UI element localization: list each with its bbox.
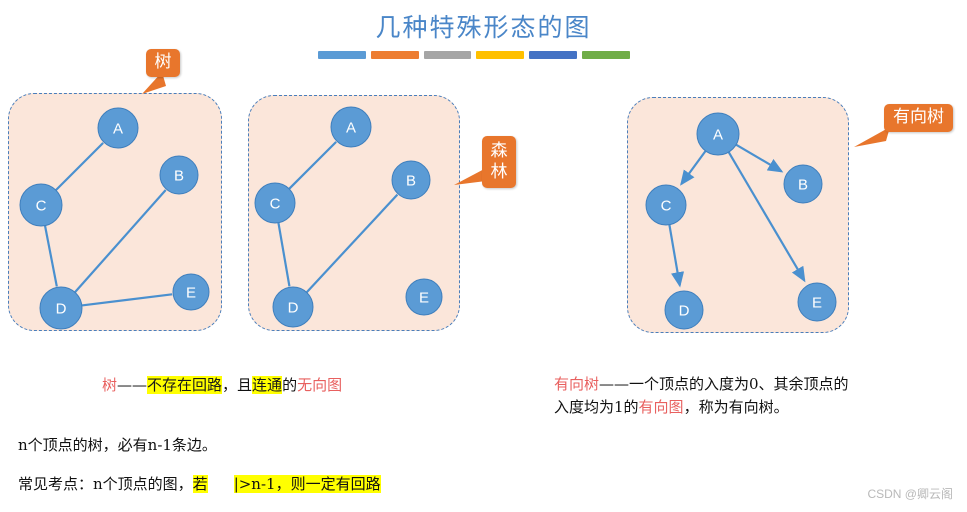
graph-edge-D-B: [306, 195, 397, 293]
callout-forest: 森林: [482, 136, 516, 188]
tree-definition-highlight-2: 连通: [252, 376, 282, 394]
tree-definition-highlight-1: 不存在回路: [147, 376, 222, 394]
note-line-2-highlight-ruo: 若: [193, 475, 208, 493]
node-label: A: [113, 121, 123, 138]
graph-node-D[interactable]: D: [40, 287, 82, 329]
tree-definition-de: 的: [282, 376, 297, 394]
graph-node-E[interactable]: E: [173, 274, 209, 310]
node-label: B: [174, 168, 184, 185]
callout-forest-label: 森林: [490, 141, 508, 183]
node-label: B: [798, 177, 808, 194]
graph-edge-C-A: [55, 143, 103, 191]
node-label: C: [36, 198, 47, 215]
directed-tree-line1-text: ——一个顶点的入度为0、其余顶点的: [599, 375, 849, 393]
directed-tree-line2-red: 有向图: [639, 398, 684, 416]
note-line-2-highlight-rest: |>n-1，则一定有回路: [234, 475, 381, 493]
node-label: C: [661, 198, 672, 215]
tree-definition-caption: 树——不存在回路，且连通的无向图: [102, 374, 342, 396]
graph-edge-A-C: [681, 150, 706, 184]
node-label: D: [288, 300, 299, 317]
graph-node-D[interactable]: D: [273, 287, 313, 327]
note-line-2: 常见考点：n个顶点的图，若|>n-1，则一定有回路: [18, 473, 381, 494]
tree-definition-mid: ，且: [222, 376, 252, 394]
directed-tree-line2-tail: ，称为有向树。: [684, 398, 789, 416]
note-line-2-head: 常见考点：n个顶点的图，: [18, 475, 193, 493]
graph-edge-C-D: [669, 224, 680, 286]
node-label: B: [406, 173, 416, 190]
node-label: A: [713, 127, 723, 144]
directed-tree-definition-line1: 有向树——一个顶点的入度为0、其余顶点的: [554, 373, 849, 395]
graph-edge-A-B: [735, 144, 781, 171]
graph-node-A[interactable]: A: [98, 108, 138, 148]
note-line-1: n个顶点的树，必有n-1条边。: [18, 434, 217, 455]
slide-canvas: 几种特殊形态的图 ABCDEABCDEABCDE 树: [0, 0, 967, 512]
graph-edge-C-A: [288, 142, 336, 190]
node-label: D: [679, 303, 690, 320]
graph-edge-D-B: [74, 190, 165, 293]
graph-edge-C-D: [45, 225, 57, 287]
callout-directed-tree: 有向树: [884, 104, 953, 132]
graph-node-D[interactable]: D: [665, 291, 703, 329]
graph-node-C[interactable]: C: [255, 183, 295, 223]
node-label: E: [186, 285, 196, 302]
graph-node-E[interactable]: E: [406, 279, 442, 315]
callout-directed-tree-label: 有向树: [893, 107, 944, 127]
callout-tree-label: 树: [155, 52, 172, 72]
callout-tree: 树: [146, 49, 180, 77]
node-label: E: [419, 290, 429, 307]
graph-edge-D-E: [81, 294, 172, 305]
tree-definition-term: 树: [102, 376, 117, 394]
watermark: CSDN @卿云阁: [867, 485, 953, 502]
graph-node-B[interactable]: B: [392, 161, 430, 199]
graph-node-C[interactable]: C: [20, 184, 62, 226]
directed-tree-term: 有向树: [554, 375, 599, 393]
note-line-1-text: n个顶点的树，必有n-1条边。: [18, 436, 217, 454]
graph-node-B[interactable]: B: [784, 165, 822, 203]
node-label: C: [270, 196, 281, 213]
graph-node-A[interactable]: A: [331, 107, 371, 147]
node-label: D: [56, 301, 67, 318]
graph-edge-C-D: [278, 222, 289, 287]
graph-node-A[interactable]: A: [697, 113, 739, 155]
tree-definition-dash: ——: [117, 376, 147, 394]
node-label: A: [346, 120, 356, 137]
directed-tree-line2-head: 入度均为1的: [554, 398, 639, 416]
graph-node-E[interactable]: E: [798, 283, 836, 321]
node-label: E: [812, 295, 822, 312]
tree-definition-tail: 无向图: [297, 376, 342, 394]
graph-node-B[interactable]: B: [160, 156, 198, 194]
directed-tree-definition-line2: 入度均为1的有向图，称为有向树。: [554, 396, 789, 418]
graph-node-C[interactable]: C: [646, 185, 686, 225]
graph-nodes: ABCDEABCDEABCDE: [20, 107, 836, 329]
